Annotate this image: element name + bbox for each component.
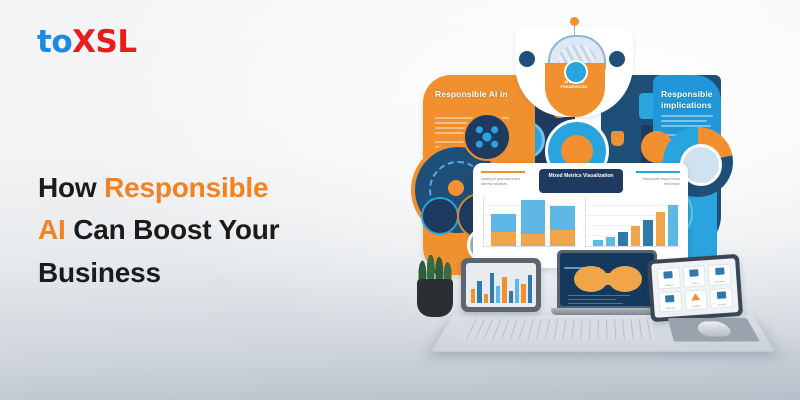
tablet-left-screen — [466, 263, 536, 307]
app-tile[interactable]: Monitoring — [708, 263, 732, 285]
tablet-left-chart — [471, 271, 532, 303]
molecule-nodes — [475, 125, 499, 149]
panel-orange-title: Responsible AI in — [435, 89, 517, 100]
logo-text-x: X — [72, 24, 95, 60]
brain-node-right-icon — [609, 51, 625, 67]
blog-banner: toXSL How Responsible AI Can Boost Your … — [0, 0, 800, 400]
desk-mat — [431, 315, 775, 352]
headline-line2-highlight: AI — [38, 214, 66, 245]
logo-text-to: to — [37, 24, 72, 60]
panel-blue-title: Responsible implications — [661, 89, 725, 111]
security-icon — [716, 291, 725, 299]
dashboard-accent-left — [481, 171, 525, 173]
desk-plant — [411, 257, 459, 317]
reporting-icon — [665, 295, 674, 303]
laptop-lid — [557, 250, 657, 309]
network-core — [448, 180, 464, 196]
dashboard-accent-right — [636, 171, 680, 173]
app-tile[interactable]: Security — [709, 287, 733, 309]
chart-trend-bar — [585, 197, 680, 247]
chart-bars-left — [491, 200, 575, 246]
headline-line1-plain: How — [38, 172, 104, 203]
antenna-icon — [570, 17, 579, 26]
laptop-screen-lines — [568, 295, 646, 306]
tablet-left-device — [461, 258, 541, 312]
page-title: How Responsible AI Can Boost Your Busine… — [38, 167, 368, 295]
molecule-circle-icon — [463, 113, 511, 161]
bar-group — [491, 214, 516, 246]
chart-bars-right — [593, 200, 678, 246]
analytics-icon — [664, 271, 673, 279]
app-tile[interactable]: Training — [682, 265, 706, 287]
headline-line1-highlight: Responsible — [104, 172, 268, 203]
laptop-screen-topbar — [564, 256, 650, 259]
bar-group — [550, 206, 575, 246]
laptop-base — [551, 308, 663, 315]
tablet-right-screen: Analytics Training Monitoring Reporting … — [651, 258, 739, 318]
tablet-right-device: Analytics Training Monitoring Reporting … — [647, 254, 743, 322]
app-tile-highlighted[interactable]: Insights — [684, 289, 708, 311]
chart-stacked-bar — [483, 197, 577, 247]
app-tile[interactable]: Reporting — [658, 290, 682, 312]
badge-circle-icon — [421, 197, 459, 235]
brain-node-left-icon — [519, 51, 535, 67]
bar-group — [521, 200, 546, 246]
laptop-device — [557, 250, 657, 320]
headline-line2-plain: Can Boost Your — [66, 214, 280, 245]
insights-icon — [691, 293, 700, 301]
plant-pot — [417, 279, 453, 317]
dashboard-caption-left: Leading AI governance and fairness indic… — [481, 177, 527, 187]
infinity-graphic-icon — [574, 266, 642, 292]
laptop-screen — [560, 253, 654, 306]
bulb-icon — [611, 131, 624, 146]
dashboard-title: Mixed Metrics Visualization — [539, 169, 623, 193]
headline-line3-plain: Business — [38, 257, 161, 288]
logo-text-sl: SL — [96, 24, 137, 60]
keyboard[interactable] — [458, 319, 656, 340]
monitoring-icon — [715, 268, 724, 276]
app-tile[interactable]: Analytics — [657, 267, 681, 289]
dashboard-caption-right: Responsible impact trends benchmark — [634, 177, 680, 187]
training-icon — [689, 270, 698, 278]
hero-illustration: Responsible AI in Responsible implicatio… — [405, 5, 795, 395]
brain-chip-icon — [564, 60, 588, 84]
brand-logo[interactable]: toXSL — [37, 27, 137, 58]
